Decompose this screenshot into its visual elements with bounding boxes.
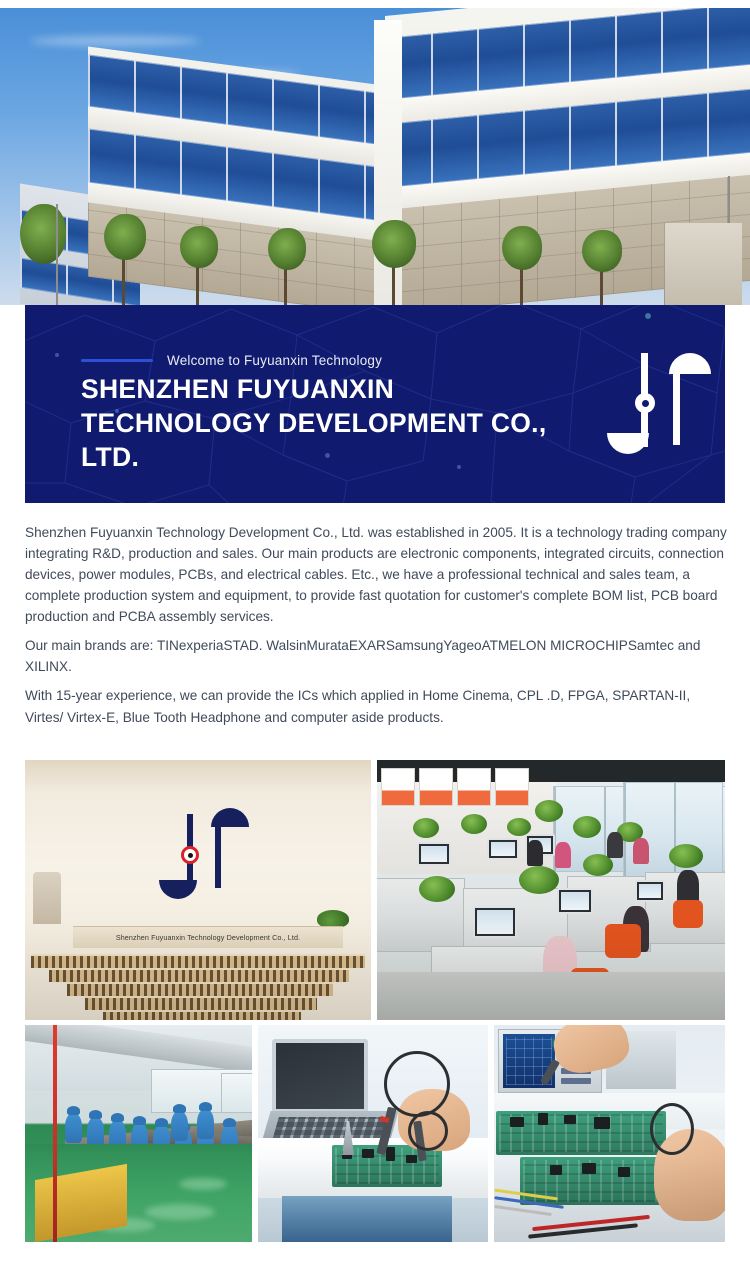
reception-jf-logo-icon <box>165 802 265 912</box>
gallery-row-2 <box>25 1025 725 1242</box>
banner-eyebrow: Welcome to Fuyuanxin Technology <box>167 353 382 368</box>
reception-desk-nameplate: Shenzhen Fuyuanxin Technology Developmen… <box>73 926 343 948</box>
pcb-oscilloscope-testing-photo[interactable] <box>494 1025 725 1242</box>
banner-eyebrow-row: Welcome to Fuyuanxin Technology <box>81 353 382 368</box>
pcb-probe-testing-photo[interactable] <box>258 1025 488 1242</box>
reception-desk-caption: Shenzhen Fuyuanxin Technology Developmen… <box>116 933 300 942</box>
hero-banner: Welcome to Fuyuanxin Technology SHENZHEN… <box>25 305 725 503</box>
decorative-rule <box>81 359 153 362</box>
about-paragraph-1: Shenzhen Fuyuanxin Technology Developmen… <box>25 522 727 627</box>
page-title: SHENZHEN FUYUANXIN TECHNOLOGY DEVELOPMEN… <box>81 373 581 475</box>
jf-monogram-icon <box>617 339 725 469</box>
hero-building-photo <box>0 8 750 305</box>
open-plan-office-photo[interactable] <box>377 760 725 1020</box>
gallery-row-1: Shenzhen Fuyuanxin Technology Developmen… <box>25 760 725 1020</box>
about-paragraph-2: Our main brands are: TINexperiaSTAD. Wal… <box>25 635 727 677</box>
reception-lobby-photo[interactable]: Shenzhen Fuyuanxin Technology Developmen… <box>25 760 371 1020</box>
about-copy: Shenzhen Fuyuanxin Technology Developmen… <box>25 522 727 736</box>
about-paragraph-3: With 15-year experience, we can provide … <box>25 685 727 727</box>
reception-desk <box>31 954 365 1020</box>
production-line-photo[interactable] <box>25 1025 252 1242</box>
